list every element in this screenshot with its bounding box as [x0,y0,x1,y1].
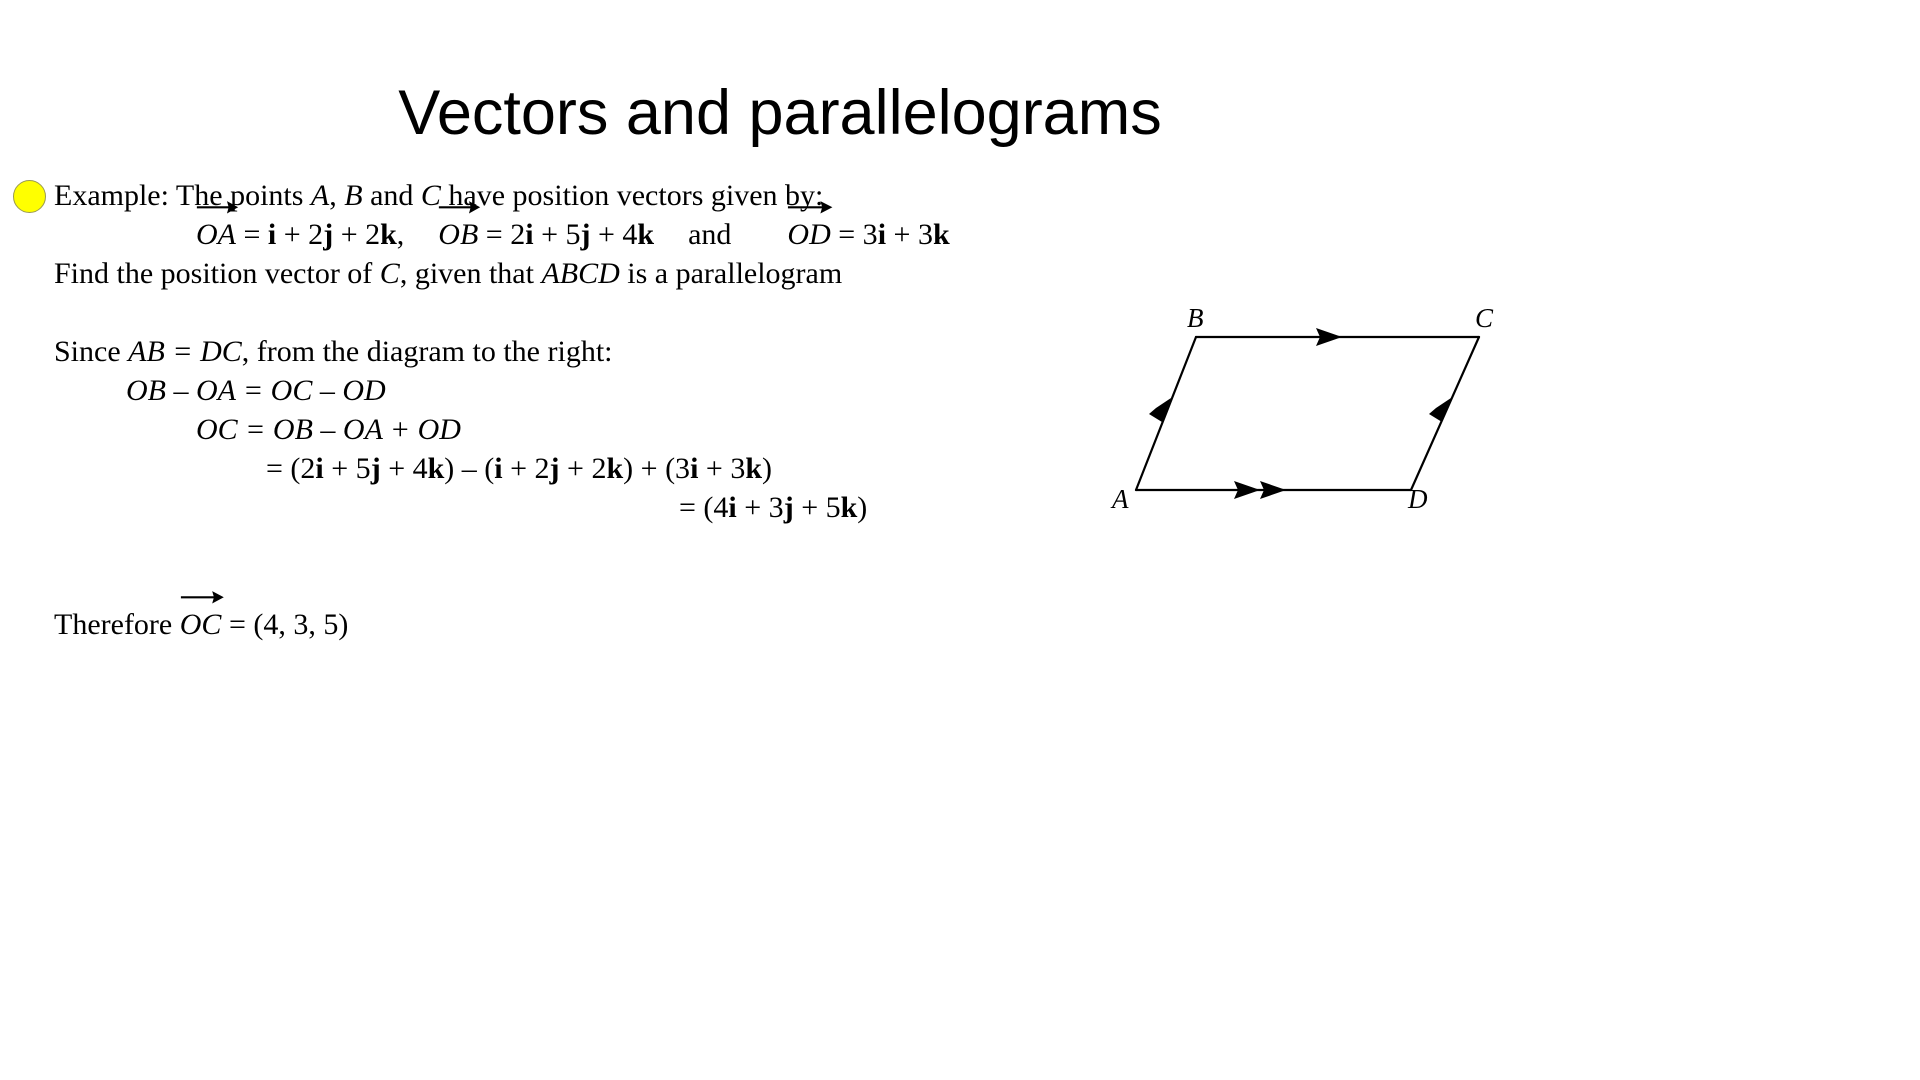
example-label: Example: [54,179,176,212]
conclusion-text-1: Therefore [54,608,180,641]
expand-j1: j [371,452,381,485]
spacer-2 [54,527,1094,566]
expand-close1: ) – ( [444,452,494,485]
diagram-label-B: B [1187,305,1204,332]
var-B: B [344,179,362,212]
oa-rhs: = [236,218,268,251]
result-p2: + 5 [794,491,841,524]
expand-eq: = (2 [266,452,315,485]
line-since: Since AB = DC, from the diagram to the r… [54,332,1094,371]
find-var-ABCD: ABCD [541,257,619,290]
find-text-1: Find the position vector of [54,257,380,290]
intro-text-3: have position vectors given by: [441,179,823,212]
result-p1: + 3 [737,491,784,524]
result-close: ) [857,491,867,524]
since-AB: AB [128,335,165,368]
conclusion-text-2: = (4, 3, 5) [221,608,348,641]
ob-plus1: + 5 [534,218,581,251]
expand-close3: ) [762,452,772,485]
edge-arrowheads [1149,328,1451,499]
line-step-2: OC = OB – OA + OD [54,410,1094,449]
oa-plus1: + 2 [276,218,323,251]
result-k1: k [841,491,858,524]
find-var-C: C [380,257,400,290]
expand-close2: ) + (3 [623,452,690,485]
since-eq: = [165,335,200,368]
vector-OC-label: OC [180,608,222,641]
oa-k: k [380,218,397,251]
expand-p1: + 5 [324,452,371,485]
since-DC: DC [200,335,242,368]
spacer-1 [54,293,1094,332]
var-A: A [311,179,329,212]
expand-j2: j [550,452,560,485]
expand-p3: + 2 [503,452,550,485]
line-find: Find the position vector of C, given tha… [54,254,1094,293]
vector-OD: OD [787,215,830,254]
ob-plus2: + 4 [590,218,637,251]
body-text-block: Example: The points A, B and C have posi… [54,176,1094,644]
slide-canvas: Vectors and parallelograms Example: The … [0,0,1920,1080]
od-k: k [933,218,950,251]
var-C: C [421,179,441,212]
expand-i1: i [315,452,323,485]
diagram-label-A: A [1112,486,1129,513]
expand-p2: + 4 [381,452,428,485]
od-plus1: + 3 [886,218,933,251]
vector-OC: OC [180,605,222,644]
vector-OA-label: OA [196,218,236,251]
ob-j: j [580,218,590,251]
since-text-1: Since [54,335,128,368]
result-eq: = (4 [679,491,728,524]
expand-i2: i [494,452,502,485]
line-example-intro: Example: The points A, B and C have posi… [54,176,1094,215]
find-text-3: is a parallelogram [620,257,842,290]
ob-i: i [525,218,533,251]
line-result: = (4i + 3j + 5k) [54,488,1094,527]
ob-rhs: = 2 [478,218,525,251]
intro-text-2: and [363,179,421,212]
result-j1: j [784,491,794,524]
oa-i: i [268,218,276,251]
since-text-2: , from the diagram to the right: [242,335,613,368]
result-i1: i [728,491,736,524]
vector-OD-label: OD [787,218,830,251]
line-conclusion: Therefore OC = (4, 3, 5) [54,605,1094,644]
parallelogram-svg [1090,300,1530,540]
expand-k3: k [745,452,762,485]
vector-OA: OA [196,215,236,254]
line-given-vectors: OA = i + 2j + 2k,OB = 2i + 5j + 4kandOD … [54,215,1094,254]
intro-text-1: The points [176,179,311,212]
intro-sep-1: , [329,179,344,212]
parallelogram-diagram: A B C D [1090,300,1530,540]
od-i: i [878,218,886,251]
expand-k1: k [428,452,445,485]
spacer-3 [54,566,1094,605]
expand-k2: k [606,452,623,485]
edge-A-B [1136,337,1196,490]
ob-k: k [637,218,654,251]
expand-p4: + 2 [560,452,607,485]
bullet-ellipse-icon [13,180,46,213]
and-word: and [688,218,731,251]
vector-OB-label: OB [438,218,478,251]
diagram-label-D: D [1408,486,1428,513]
line-expansion: = (2i + 5j + 4k) – (i + 2j + 2k) + (3i +… [54,449,1094,488]
page-title: Vectors and parallelograms [0,78,1560,148]
line-step-1: OB – OA = OC – OD [54,371,1094,410]
od-rhs: = 3 [831,218,878,251]
find-text-2: , given that [400,257,542,290]
oa-j: j [323,218,333,251]
vector-OB: OB [438,215,478,254]
oa-plus2: + 2 [333,218,380,251]
oa-comma: , [397,218,405,251]
expand-p5: + 3 [698,452,745,485]
diagram-label-C: C [1475,305,1493,332]
